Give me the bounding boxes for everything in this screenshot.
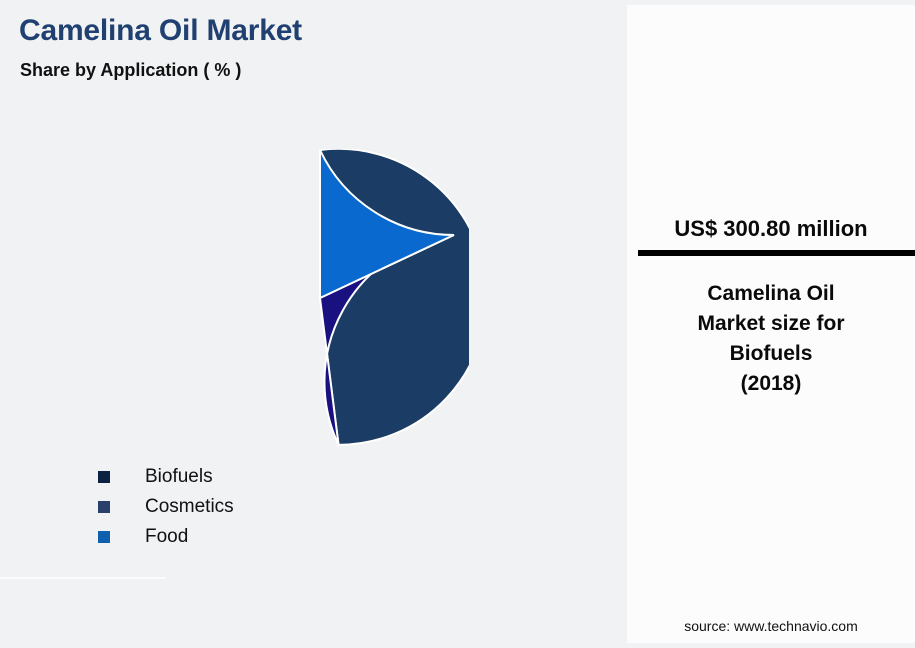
callout-description-line-2: Market size for <box>627 309 915 339</box>
chart-panel: Camelina Oil Market Share by Application… <box>0 0 627 648</box>
callout-description-line-4: (2018) <box>627 369 915 399</box>
callout-description-line-1: Camelina Oil <box>627 279 915 309</box>
chart-legend: Biofuels Cosmetics Food <box>98 462 234 552</box>
pie-chart-svg <box>171 149 469 447</box>
source-note: source: www.technavio.com <box>627 618 915 634</box>
pie-chart <box>171 149 469 447</box>
page-title: Camelina Oil Market <box>19 14 302 48</box>
legend-label-cosmetics: Cosmetics <box>145 496 234 518</box>
baseline-divider <box>0 577 166 579</box>
legend-swatch-food <box>98 531 110 543</box>
legend-item-food[interactable]: Food <box>98 522 234 552</box>
legend-swatch-cosmetics <box>98 501 110 513</box>
callout-value: US$ 300.80 million <box>627 216 915 242</box>
legend-label-biofuels: Biofuels <box>145 466 213 488</box>
chart-subtitle: Share by Application ( % ) <box>20 60 241 81</box>
legend-item-cosmetics[interactable]: Cosmetics <box>98 492 234 522</box>
pie-slice-group <box>320 149 469 445</box>
callout-description: Camelina Oil Market size for Biofuels (2… <box>627 279 915 399</box>
callout-divider <box>638 250 915 256</box>
legend-item-biofuels[interactable]: Biofuels <box>98 462 234 492</box>
legend-label-food: Food <box>145 526 188 548</box>
callout-description-line-3: Biofuels <box>627 339 915 369</box>
callout-panel: US$ 300.80 million Camelina Oil Market s… <box>627 5 915 643</box>
legend-swatch-biofuels <box>98 471 110 483</box>
